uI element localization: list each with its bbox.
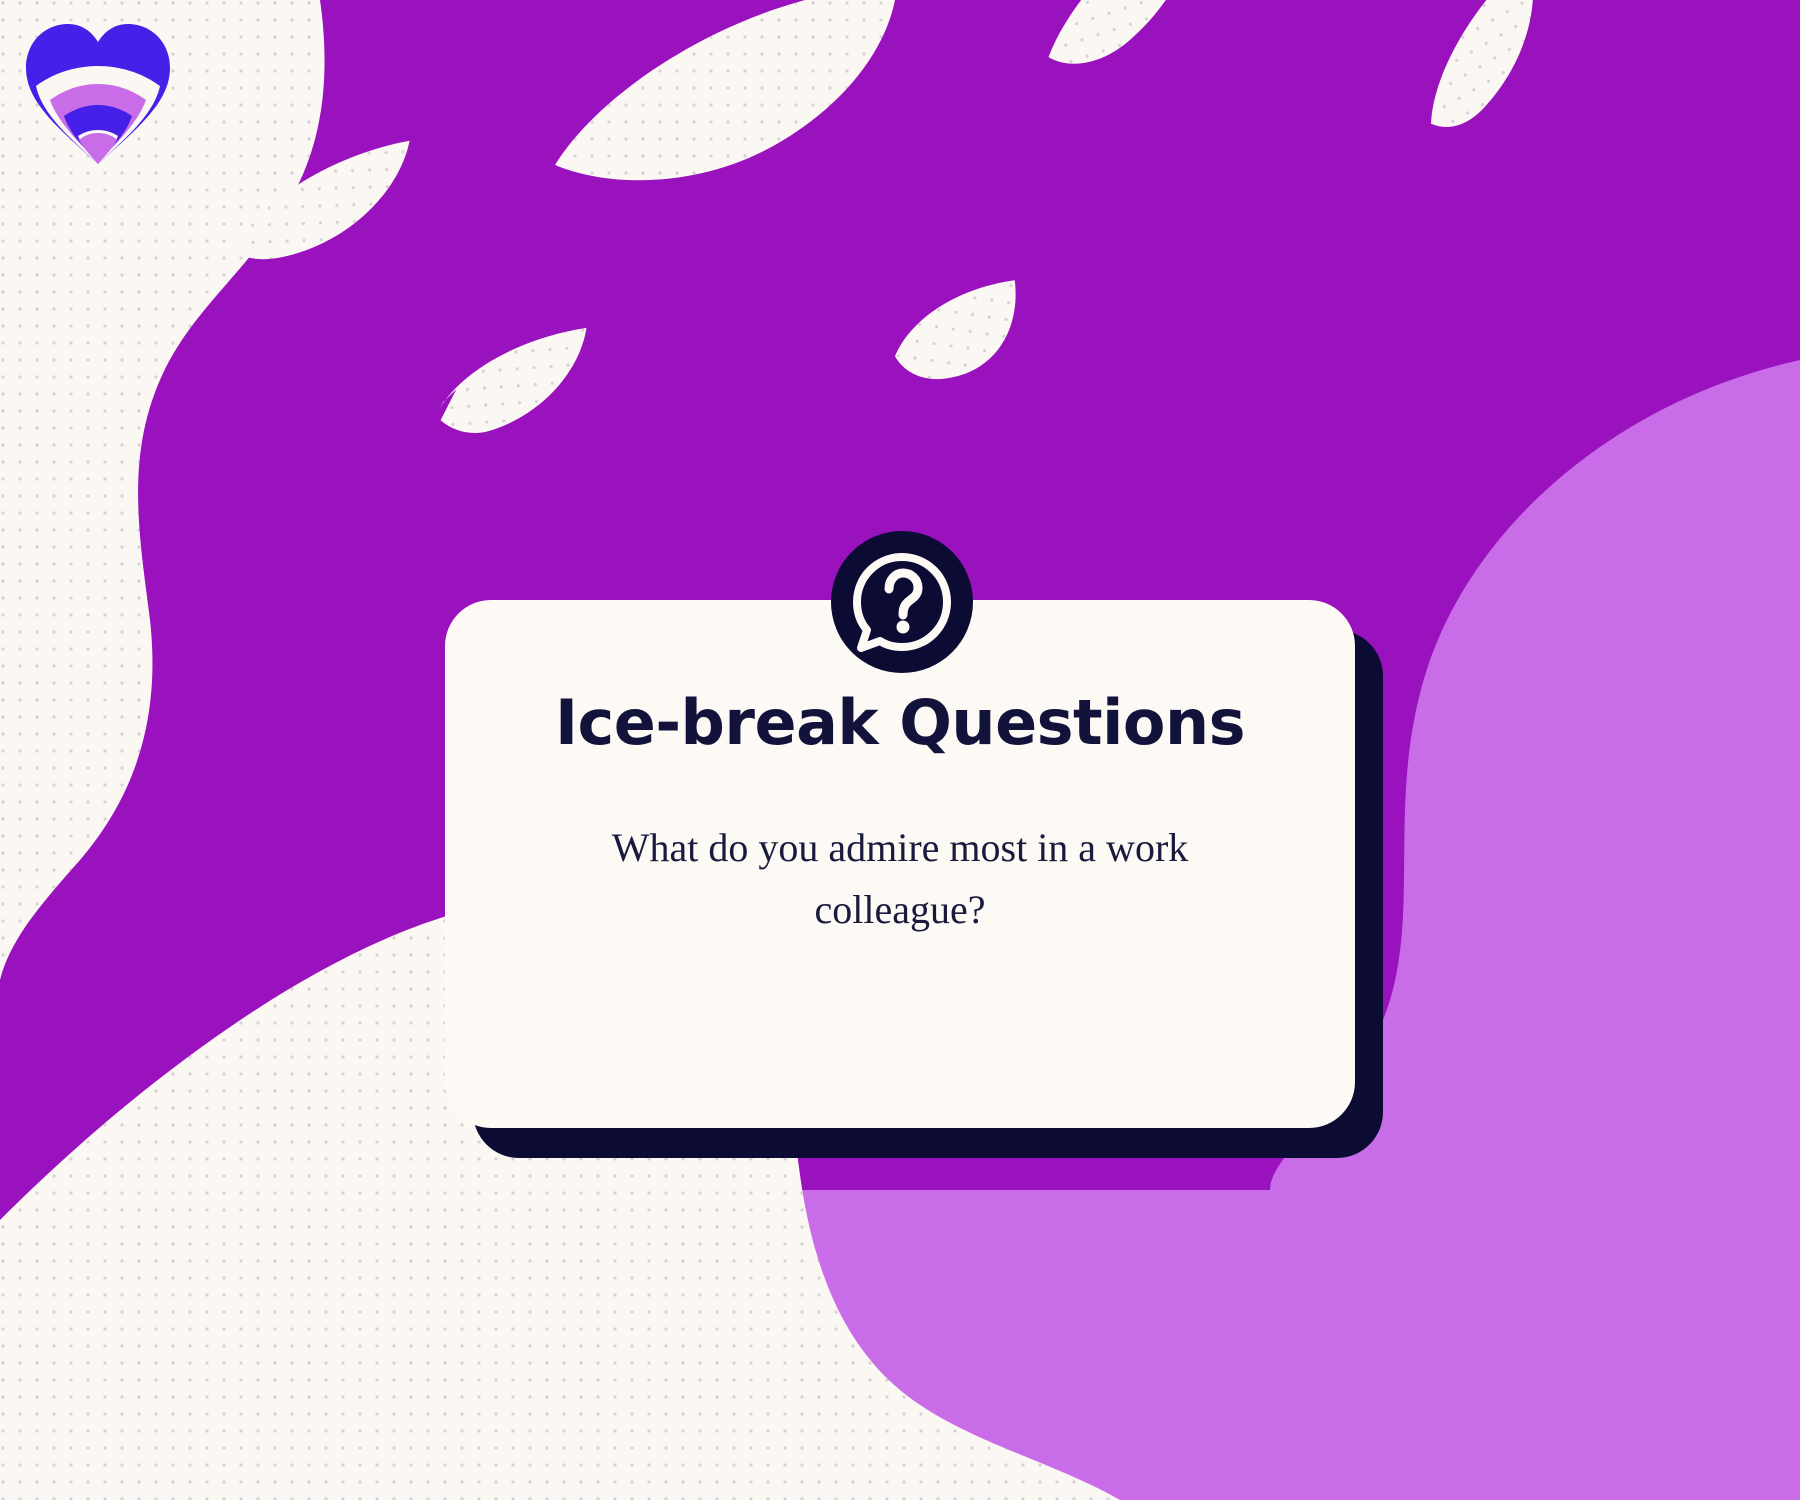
heart-wifi-icon xyxy=(18,16,178,166)
poster-canvas: Ice-break Questions What do you admire m… xyxy=(0,0,1800,1500)
heart-wifi-logo xyxy=(18,16,178,166)
question-badge xyxy=(831,531,973,673)
question-card: Ice-break Questions What do you admire m… xyxy=(445,600,1355,1128)
question-mark-chat-icon xyxy=(831,531,973,673)
question-card-wrapper: Ice-break Questions What do you admire m… xyxy=(445,600,1355,1128)
question-text: What do you admire most in a work collea… xyxy=(550,817,1250,941)
page-title: Ice-break Questions xyxy=(515,690,1285,755)
